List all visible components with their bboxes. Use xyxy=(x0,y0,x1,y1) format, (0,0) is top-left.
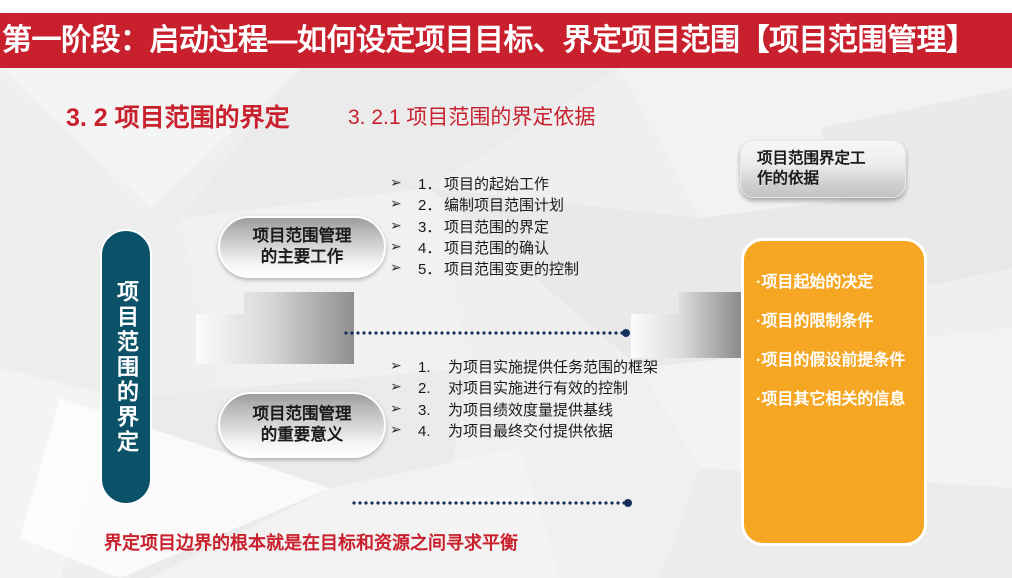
slide-canvas: 第一阶段：启动过程—如何设定项目目标、界定项目范围【项目范围管理】 3. 2 项… xyxy=(0,0,1012,578)
pill-basis-header-label: 项目范围界定工 作的依据 xyxy=(757,149,866,189)
page-title: 第一阶段：启动过程—如何设定项目目标、界定项目范围【项目范围管理】 xyxy=(0,13,976,68)
chevron-right-icon: ➢ xyxy=(390,378,418,398)
pill-main-work-line1: 项目范围管理 xyxy=(253,227,352,245)
list-item-number: 5． xyxy=(418,259,444,280)
list-item: ➢ 3. 为项目绩效度量提供基线 xyxy=(390,400,690,421)
pill-main-work[interactable]: 项目范围管理 的主要工作 xyxy=(218,216,386,278)
header-bar: 第一阶段：启动过程—如何设定项目目标、界定项目范围【项目范围管理】 xyxy=(0,13,1012,68)
chevron-right-icon: ➢ xyxy=(390,238,418,258)
chevron-right-icon: ➢ xyxy=(390,259,418,279)
list-item-number: 4． xyxy=(418,238,444,259)
bullet-list-significance: ➢ 1. 为项目实施提供任务范围的框架 ➢ 2. 对项目实施进行有效的控制 ➢ … xyxy=(390,357,690,442)
list-item-text: 项目范围的确认 xyxy=(444,238,690,259)
pill-significance-line2: 的重要意义 xyxy=(261,426,344,444)
orange-list-item: ·项目的假设前提条件 xyxy=(756,353,924,369)
vertical-title-bar: 项目范围的界定 xyxy=(100,229,152,505)
list-item-number: 3． xyxy=(418,217,444,238)
list-item-number: 2. xyxy=(418,378,448,399)
connector-dotted-lower xyxy=(351,501,628,505)
section-subtitle: 3. 2.1 项目范围的界定依据 xyxy=(348,101,595,131)
pill-basis-header[interactable]: 项目范围界定工 作的依据 xyxy=(740,140,906,198)
pill-significance[interactable]: 项目范围管理 的重要意义 xyxy=(218,392,386,458)
chevron-right-icon: ➢ xyxy=(390,195,418,215)
chevron-right-icon: ➢ xyxy=(390,174,418,194)
list-item-number: 2． xyxy=(418,195,444,216)
orange-list-item: ·项目其它相关的信息 xyxy=(756,392,924,408)
pill-main-work-label: 项目范围管理 的主要工作 xyxy=(253,226,352,268)
list-item: ➢ 1. 为项目实施提供任务范围的框架 xyxy=(390,357,690,378)
list-item-text: 为项目实施提供任务范围的框架 xyxy=(448,357,690,378)
chevron-right-icon: ➢ xyxy=(390,357,418,377)
list-item-text: 为项目最终交付提供依据 xyxy=(448,421,690,442)
list-item-text: 编制项目范围计划 xyxy=(444,195,690,216)
pill-main-work-line2: 的主要工作 xyxy=(261,248,344,266)
list-item: ➢ 4． 项目范围的确认 xyxy=(390,238,690,259)
list-item: ➢ 3． 项目范围的界定 xyxy=(390,217,690,238)
pill-basis-header-line1: 项目范围界定工 xyxy=(757,150,866,167)
list-item-number: 1. xyxy=(418,357,448,378)
pill-basis-header-line2: 作的依据 xyxy=(757,170,819,187)
arrow-left-upper xyxy=(196,292,416,392)
list-item: ➢ 2． 编制项目范围计划 xyxy=(390,195,690,216)
chevron-right-icon: ➢ xyxy=(390,217,418,237)
list-item: ➢ 1． 项目的起始工作 xyxy=(390,174,690,195)
list-item-number: 1． xyxy=(418,174,444,195)
list-item-number: 4. xyxy=(418,421,448,442)
orange-basis-panel: ·项目起始的决定 ·项目的限制条件 ·项目的假设前提条件 ·项目其它相关的信息 xyxy=(741,238,927,546)
pill-significance-label: 项目范围管理 的重要意义 xyxy=(253,404,352,446)
pill-significance-line1: 项目范围管理 xyxy=(253,405,352,423)
section-title: 3. 2 项目范围的界定 xyxy=(66,98,290,134)
list-item-text: 对项目实施进行有效的控制 xyxy=(448,378,690,399)
connector-end-dot xyxy=(624,499,632,507)
list-item-text: 为项目绩效度量提供基线 xyxy=(448,400,690,421)
connector-end-dot xyxy=(622,329,630,337)
list-item: ➢ 5． 项目范围变更的控制 xyxy=(390,259,690,280)
vertical-title-label: 项目范围的界定 xyxy=(115,280,137,455)
list-item-text: 项目的起始工作 xyxy=(444,174,690,195)
list-item-number: 3. xyxy=(418,400,448,421)
bottom-statement: 界定项目边界的根本就是在目标和资源之间寻求平衡 xyxy=(104,529,518,555)
list-item-text: 项目范围变更的控制 xyxy=(444,259,690,280)
connector-dotted-upper xyxy=(343,331,626,335)
orange-list-item: ·项目的限制条件 xyxy=(756,314,924,330)
list-item-text: 项目范围的界定 xyxy=(444,217,690,238)
bullet-list-main-work: ➢ 1． 项目的起始工作 ➢ 2． 编制项目范围计划 ➢ 3． 项目范围的界定 … xyxy=(390,174,690,280)
chevron-right-icon: ➢ xyxy=(390,421,418,441)
chevron-right-icon: ➢ xyxy=(390,400,418,420)
list-item: ➢ 2. 对项目实施进行有效的控制 xyxy=(390,378,690,399)
orange-list-item: ·项目起始的决定 xyxy=(756,275,924,291)
list-item: ➢ 4. 为项目最终交付提供依据 xyxy=(390,421,690,442)
